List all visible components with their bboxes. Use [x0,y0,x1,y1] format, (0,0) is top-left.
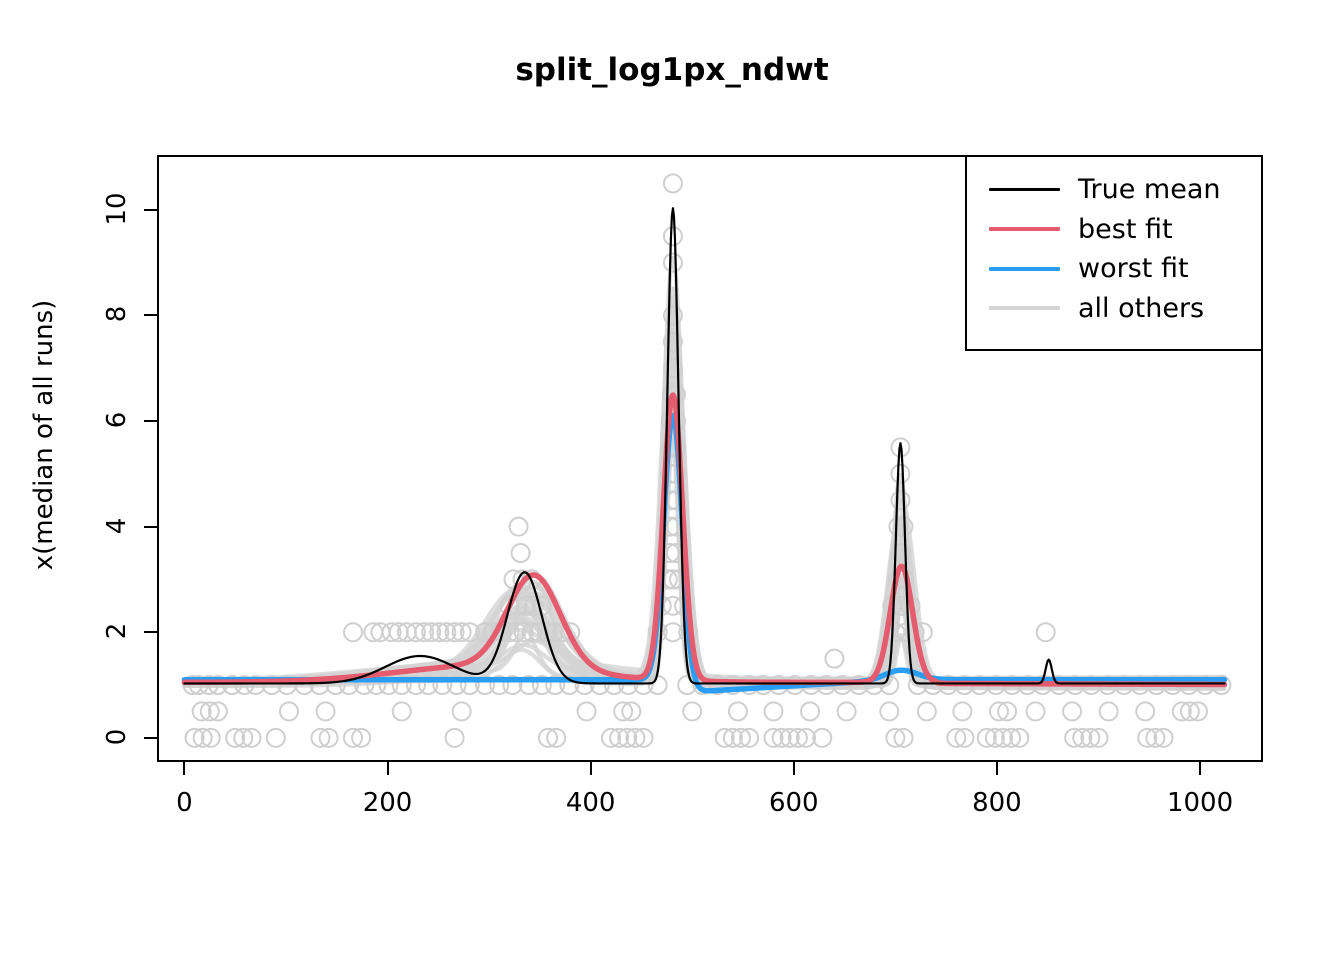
series-line [184,322,1224,684]
scatter-point [664,227,682,245]
scatter-point [649,676,667,694]
series-line [184,417,1224,685]
series-line [184,407,1224,686]
series-line [184,354,1224,689]
legend-label: True mean [1078,176,1221,203]
scatter-point [825,650,843,668]
scatter-point [1100,702,1118,720]
legend-swatch-icon [989,188,1060,191]
y-tick-label: 8 [102,287,132,341]
y-tick-label: 6 [102,393,132,447]
x-tick-mark [1199,762,1201,775]
y-tick-label: 10 [102,182,132,236]
series-line [184,396,1224,681]
scatter-point [267,729,285,747]
series-line [184,300,1224,685]
x-tick-mark [590,762,592,775]
chart-figure: split_log1px_ndwt x(median of all runs) … [0,0,1344,960]
series-line [184,309,1224,683]
legend: True meanbest fitworst fitall others [965,155,1263,351]
series-line [184,424,1224,687]
scatter-point [510,518,528,536]
scatter-point [664,174,682,192]
series-line [184,434,1224,687]
scatter-point [880,702,898,720]
series-line [184,372,1224,683]
scatter-point [344,623,362,641]
scatter-point [1063,702,1081,720]
scatter-point [578,702,596,720]
x-tick-mark [183,762,185,775]
scatter-point [280,702,298,720]
y-axis-label: x(median of all runs) [29,125,59,745]
scatter-point [317,702,335,720]
legend-label: best fit [1078,216,1173,243]
x-tick-label: 1000 [1140,788,1260,818]
legend-label: worst fit [1078,255,1189,282]
scatter-point [1136,702,1154,720]
legend-label: all others [1078,295,1204,322]
y-tick-label: 2 [102,604,132,658]
series-line [184,354,1224,685]
scatter-point [838,702,856,720]
x-tick-mark [387,762,389,775]
scatter-point [664,597,682,615]
x-tick-mark [793,762,795,775]
scatter-point [953,702,971,720]
legend-swatch-icon [989,267,1060,271]
scatter-point [801,702,819,720]
x-tick-label: 600 [734,788,854,818]
page-title: split_log1px_ndwt [0,52,1344,88]
legend-item-best-fit[interactable]: best fit [967,210,1261,249]
x-tick-mark [996,762,998,775]
series-line [184,415,1224,681]
y-tick-mark [144,420,157,422]
series-line [184,310,1224,687]
x-tick-label: 200 [328,788,448,818]
scatter-point [393,702,411,720]
y-tick-mark [144,314,157,316]
scatter-point [729,702,747,720]
scatter-point [683,702,701,720]
legend-swatch-icon [989,306,1060,310]
x-tick-label: 800 [937,788,1057,818]
series-line [184,405,1224,688]
x-tick-label: 0 [124,788,244,818]
series-line [184,357,1224,688]
y-tick-mark [144,209,157,211]
scatter-point [764,702,782,720]
legend-item-all-others[interactable]: all others [967,289,1261,328]
series-line [184,398,1224,682]
series-line [184,434,1224,682]
series-line [184,416,1224,691]
scatter-point [918,702,936,720]
y-tick-mark [144,631,157,633]
legend-item-worst-fit[interactable]: worst fit [967,249,1261,288]
y-tick-label: 4 [102,499,132,553]
legend-item-true-mean[interactable]: True mean [967,170,1261,209]
series-line [184,297,1224,685]
series-line [184,379,1224,681]
series-line [184,325,1224,684]
legend-swatch-icon [989,227,1060,231]
scatter-point [1027,702,1045,720]
scatter-point [446,729,464,747]
y-tick-mark [144,737,157,739]
x-tick-label: 400 [531,788,651,818]
y-tick-label: 0 [102,710,132,764]
y-tick-mark [144,526,157,528]
series-line [184,314,1224,687]
series-line [184,393,1224,683]
series-line [184,395,1224,684]
scatter-point [453,702,471,720]
series-line [184,305,1224,686]
scatter-point [512,544,530,562]
series-line [184,310,1224,680]
scatter-point [1037,623,1055,641]
